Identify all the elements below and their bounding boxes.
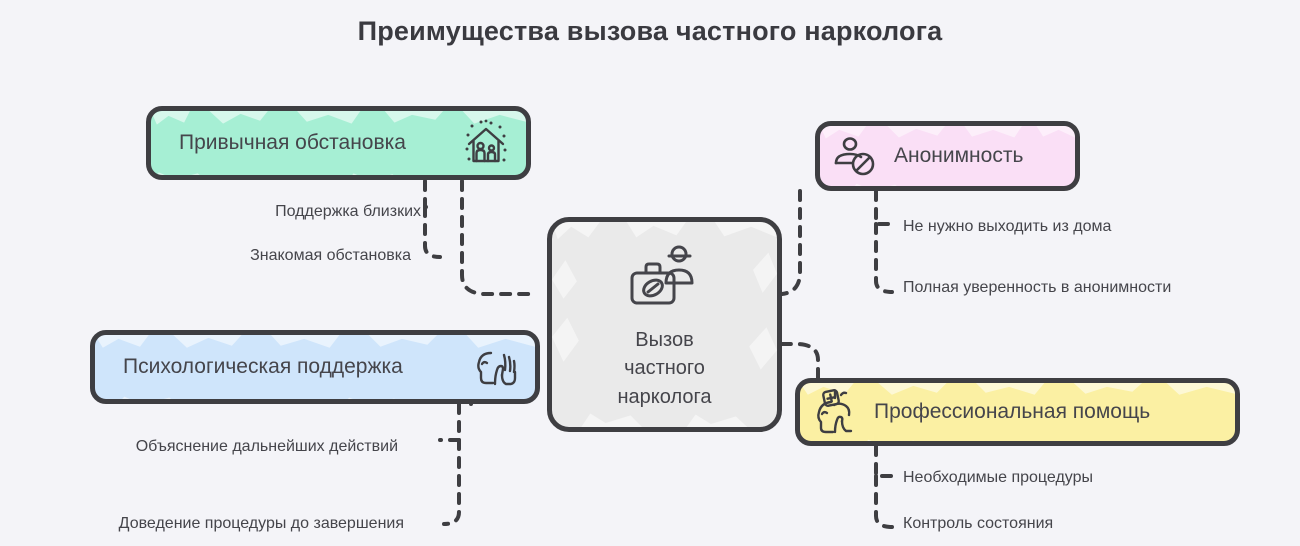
link-blue-leaf1 <box>440 404 459 440</box>
center-label-line2: частного <box>618 354 712 382</box>
branch-node-yellow[interactable]: Профессиональная помощь <box>795 378 1240 446</box>
link-center-pink <box>782 191 800 294</box>
link-green-leaf2 <box>425 207 440 257</box>
link-center-yellow <box>782 344 818 378</box>
head-with-medical-cross-icon <box>810 386 862 438</box>
link-yellow-leaf2 <box>876 476 892 527</box>
center-node[interactable]: Вызов частного нарколога <box>547 217 782 432</box>
center-label: Вызов частного нарколога <box>618 326 712 411</box>
link-green-leaf1 <box>425 181 432 207</box>
branch-label-blue: Психологическая поддержка <box>123 355 403 379</box>
head-with-hand-support-icon <box>471 342 521 392</box>
leaf-green-2: Знакомая обстановка <box>0 247 411 265</box>
branch-node-green[interactable]: Привычная обстановка <box>146 106 531 180</box>
leaf-pink-2: Полная уверенность в анонимности <box>903 279 1171 297</box>
leaf-blue-2: Доведение процедуры до завершения <box>0 515 404 533</box>
link-yellow-leaf1 <box>876 446 893 476</box>
branch-label-pink: Анонимность <box>894 144 1023 168</box>
anonymous-person-blocked-icon <box>830 131 880 181</box>
leaf-blue-1: Объяснение дальнейших действий <box>0 438 398 456</box>
link-pink-leaf2 <box>876 224 892 292</box>
doctor-with-medical-bag-icon <box>622 242 708 314</box>
link-pink-leaf1 <box>876 191 893 224</box>
mindmap-canvas: Преимущества вызова частного нарколога <box>0 0 1300 546</box>
link-center-green <box>462 181 534 294</box>
link-blue-leaf2 <box>444 440 459 524</box>
house-with-family-icon <box>460 117 512 169</box>
branch-label-yellow: Профессиональная помощь <box>874 400 1150 424</box>
leaf-yellow-1: Необходимые процедуры <box>903 469 1093 487</box>
center-label-line1: Вызов <box>618 326 712 354</box>
leaf-green-1: Поддержка близких <box>0 203 421 221</box>
branch-node-blue[interactable]: Психологическая поддержка <box>90 330 540 404</box>
branch-node-pink[interactable]: Анонимность <box>815 121 1080 191</box>
page-title: Преимущества вызова частного нарколога <box>0 16 1300 47</box>
leaf-yellow-2: Контроль состояния <box>903 515 1053 533</box>
leaf-pink-1: Не нужно выходить из дома <box>903 218 1111 236</box>
branch-label-green: Привычная обстановка <box>179 131 406 155</box>
center-label-line3: нарколога <box>618 383 712 411</box>
